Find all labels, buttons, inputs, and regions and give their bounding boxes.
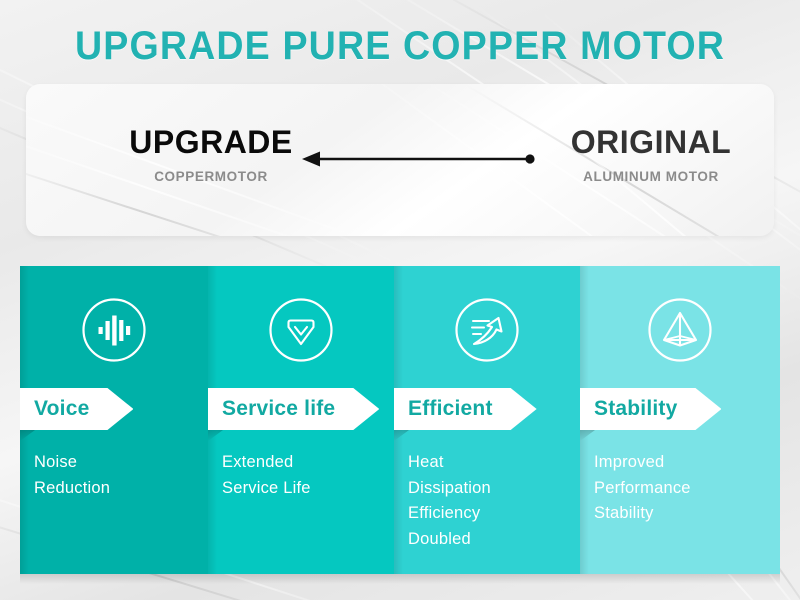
feature-description-efficient: Heat Dissipation Efficiency Doubled [408, 450, 570, 552]
comparison-arrow-icon [300, 148, 540, 170]
desc-line: Reduction [34, 476, 198, 502]
desc-line: Noise [34, 450, 198, 476]
desc-line: Performance [594, 476, 770, 502]
upgrade-subtitle: COPPERMOTOR [86, 169, 336, 184]
columns-drop-shadow [20, 574, 780, 584]
banner-fold [208, 430, 223, 441]
banner-fold [20, 430, 35, 441]
desc-line: Heat [408, 450, 570, 476]
feature-description-voice: Noise Reduction [34, 450, 198, 501]
feature-description-stability: Improved Performance Stability [594, 450, 770, 527]
desc-line: Doubled [408, 527, 570, 553]
original-side: ORIGINAL ALUMINUM MOTOR [526, 126, 774, 184]
original-title: ORIGINAL [526, 126, 774, 160]
feature-column-efficient[interactable]: Efficient Heat Dissipation Efficiency Do… [394, 266, 580, 574]
desc-line: Dissipation [408, 476, 570, 502]
feature-banner-voice[interactable]: Voice [20, 388, 133, 430]
desc-line: Efficiency [408, 501, 570, 527]
feature-banner-service-life[interactable]: Service life [208, 388, 379, 430]
poster-root: UPGRADE PURE COPPER MOTOR UPGRADE COPPER… [0, 0, 800, 600]
original-subtitle: ALUMINUM MOTOR [526, 169, 774, 184]
upgrade-side: UPGRADE COPPERMOTOR [86, 126, 336, 184]
speed-arrow-icon [451, 294, 523, 366]
desc-line: Stability [594, 501, 770, 527]
feature-column-service-life[interactable]: Service life Extended Service Life [208, 266, 394, 574]
page-title: UPGRADE PURE COPPER MOTOR [24, 24, 776, 69]
feature-banner-stability[interactable]: Stability [580, 388, 721, 430]
pyramid-icon [644, 294, 716, 366]
desc-line: Improved [594, 450, 770, 476]
feature-column-stability[interactable]: Stability Improved Performance Stability [580, 266, 780, 574]
diamond-chevron-icon [265, 294, 337, 366]
feature-column-voice[interactable]: Voice Noise Reduction [20, 266, 208, 574]
banner-fold [580, 430, 595, 441]
feature-banner-efficient[interactable]: Efficient [394, 388, 537, 430]
desc-line: Service Life [222, 476, 384, 502]
banner-fold [394, 430, 409, 441]
upgrade-title: UPGRADE [86, 126, 336, 160]
sound-wave-icon [78, 294, 150, 366]
desc-line: Extended [222, 450, 384, 476]
feature-description-service-life: Extended Service Life [222, 450, 384, 501]
feature-columns: Voice Noise Reduction Service life Exten… [20, 266, 780, 574]
